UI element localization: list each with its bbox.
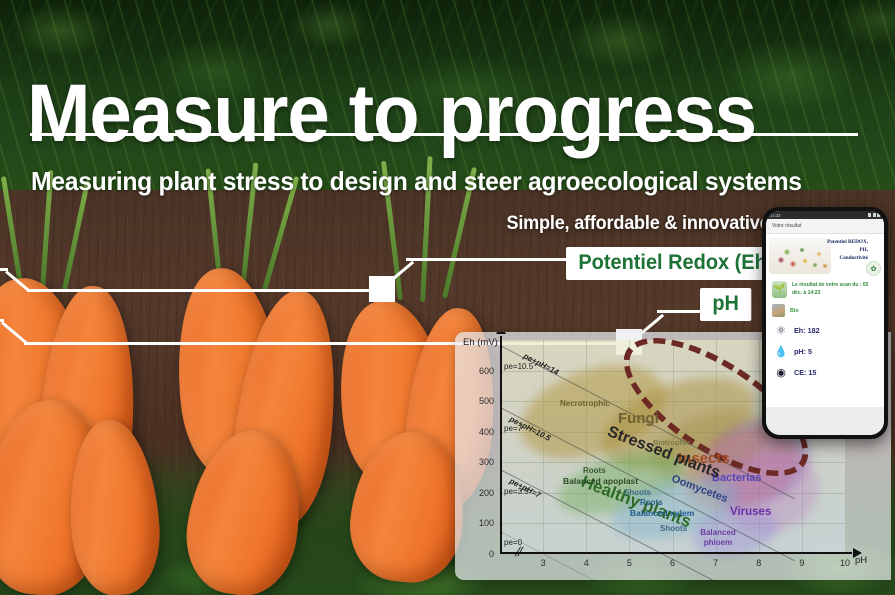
x-tick-3: 6 [670,558,675,568]
phone-status-bar: 14:33 [766,211,884,219]
bio-row: Bio [766,301,884,320]
plant-icon: 🌱 [772,281,787,298]
y-tick-1: 100 [479,518,494,528]
x-tick-4: 7 [713,558,718,568]
phone-banner: Potentiel REDOX, PH, Conductivité ✿ [766,234,884,278]
poster-root: Measure to progress Measuring plant stre… [0,0,895,595]
chart-y-axis [500,336,502,554]
y-axis-arrow-icon [496,332,506,334]
signal-icon [868,213,871,217]
zone-label-shoots-1: Shoots [624,488,651,497]
measurement-value-eh: Eh: 182 [794,326,820,335]
battery-icon [877,213,880,217]
banner-heading: Potentiel REDOX, PH, Conductivité [808,239,868,262]
callout-ph: pH [700,288,751,321]
x-tick-0: 3 [541,558,546,568]
chart-y-axis-label: Eh (mV) [463,338,498,349]
measurement-value-ce: CE: 15 [794,368,816,377]
measurement-row-ph: 💧 pH: 5 [766,341,884,362]
chart-x-axis-label: pH [855,555,867,566]
pe-label-2: pe=3.5 [504,487,529,496]
phone-screen: 14:33 Votre résultat Potentiel REDOX, PH… [766,211,884,435]
callout-potentiel-redox: Potentiel Redox (Eh) [566,247,786,280]
banner-line-3: Conductivité [808,255,868,263]
measurement-row-ce: ◉ CE: 15 [766,362,884,383]
bio-thumbnail-icon [772,304,785,317]
zone-label-bacterias: Bacterias [712,472,762,484]
y-tick-5: 500 [479,396,494,406]
x-tick-6: 9 [799,558,804,568]
y-tick-6: 600 [479,366,494,376]
y-tick-0: 0 [489,549,494,559]
x-tick-5: 8 [756,558,761,568]
y-axis-label-text: Eh (mV) [463,337,498,348]
scan-result-row: 🌱 Le résultat de votre scan du : 02 déc.… [766,278,884,301]
zone-label-balanced-phloem: Balanced phloem [696,528,740,548]
phone-app-bar: Votre résultat [766,219,884,234]
status-bar-time: 14:33 [770,213,780,218]
zone-label-balanced-apoplast: Balanced apoplast [563,476,638,486]
leader-node-redox [369,276,395,302]
status-bar-icons [868,213,880,217]
chart-x-axis [500,552,852,554]
app-bar-title: Votre résultat [772,223,801,229]
wifi-icon [873,213,876,217]
measurement-row-eh: ⚛ Eh: 182 [766,320,884,341]
x-tick-2: 5 [627,558,632,568]
zone-label-fungi: Fungi [618,410,659,427]
scan-result-text: Le résultat de votre scan du : 02 déc. à… [792,282,878,297]
conductivity-droplet-icon: ◉ [775,367,787,379]
redox-atom-icon: ⚛ [775,325,787,337]
title-divider [30,133,858,136]
tagline: Simple, affordable & innovative [507,213,754,235]
y-tick-3: 300 [479,457,494,467]
zone-label-shoots-2: Shoots [660,524,687,533]
zone-label-balanced-xylem: Balanced xylem [630,508,694,518]
bio-label: Bio [790,308,799,314]
zone-label-viruses: Viruses [730,506,771,518]
zone-label-necrotrophic: Necrotrophic [560,399,610,408]
banner-line-2: PH, [808,247,868,255]
pe-label-1: pe=7 [504,424,522,433]
leaf-icon: ✿ [866,261,881,276]
zone-label-roots-apoplast: Roots [583,466,606,475]
y-tick-4: 400 [479,427,494,437]
y-tick-2: 200 [479,488,494,498]
page-title: Measure to progress [27,75,813,153]
phone-mockup: 14:33 Votre résultat Potentiel REDOX, PH… [762,207,888,439]
page-subtitle: Measuring plant stress to design and ste… [31,166,829,197]
x-tick-1: 4 [584,558,589,568]
phone-footer-area [766,407,884,435]
banner-line-1: Potentiel REDOX, [808,239,868,247]
measurement-value-ph: pH: 5 [794,347,812,356]
zone-label-roots-xylem: Roots [640,498,663,507]
ph-droplet-icon: 💧 [775,346,787,358]
x-tick-7: 10 [840,558,850,568]
pe-label-0: pe=10.5 [504,362,533,371]
